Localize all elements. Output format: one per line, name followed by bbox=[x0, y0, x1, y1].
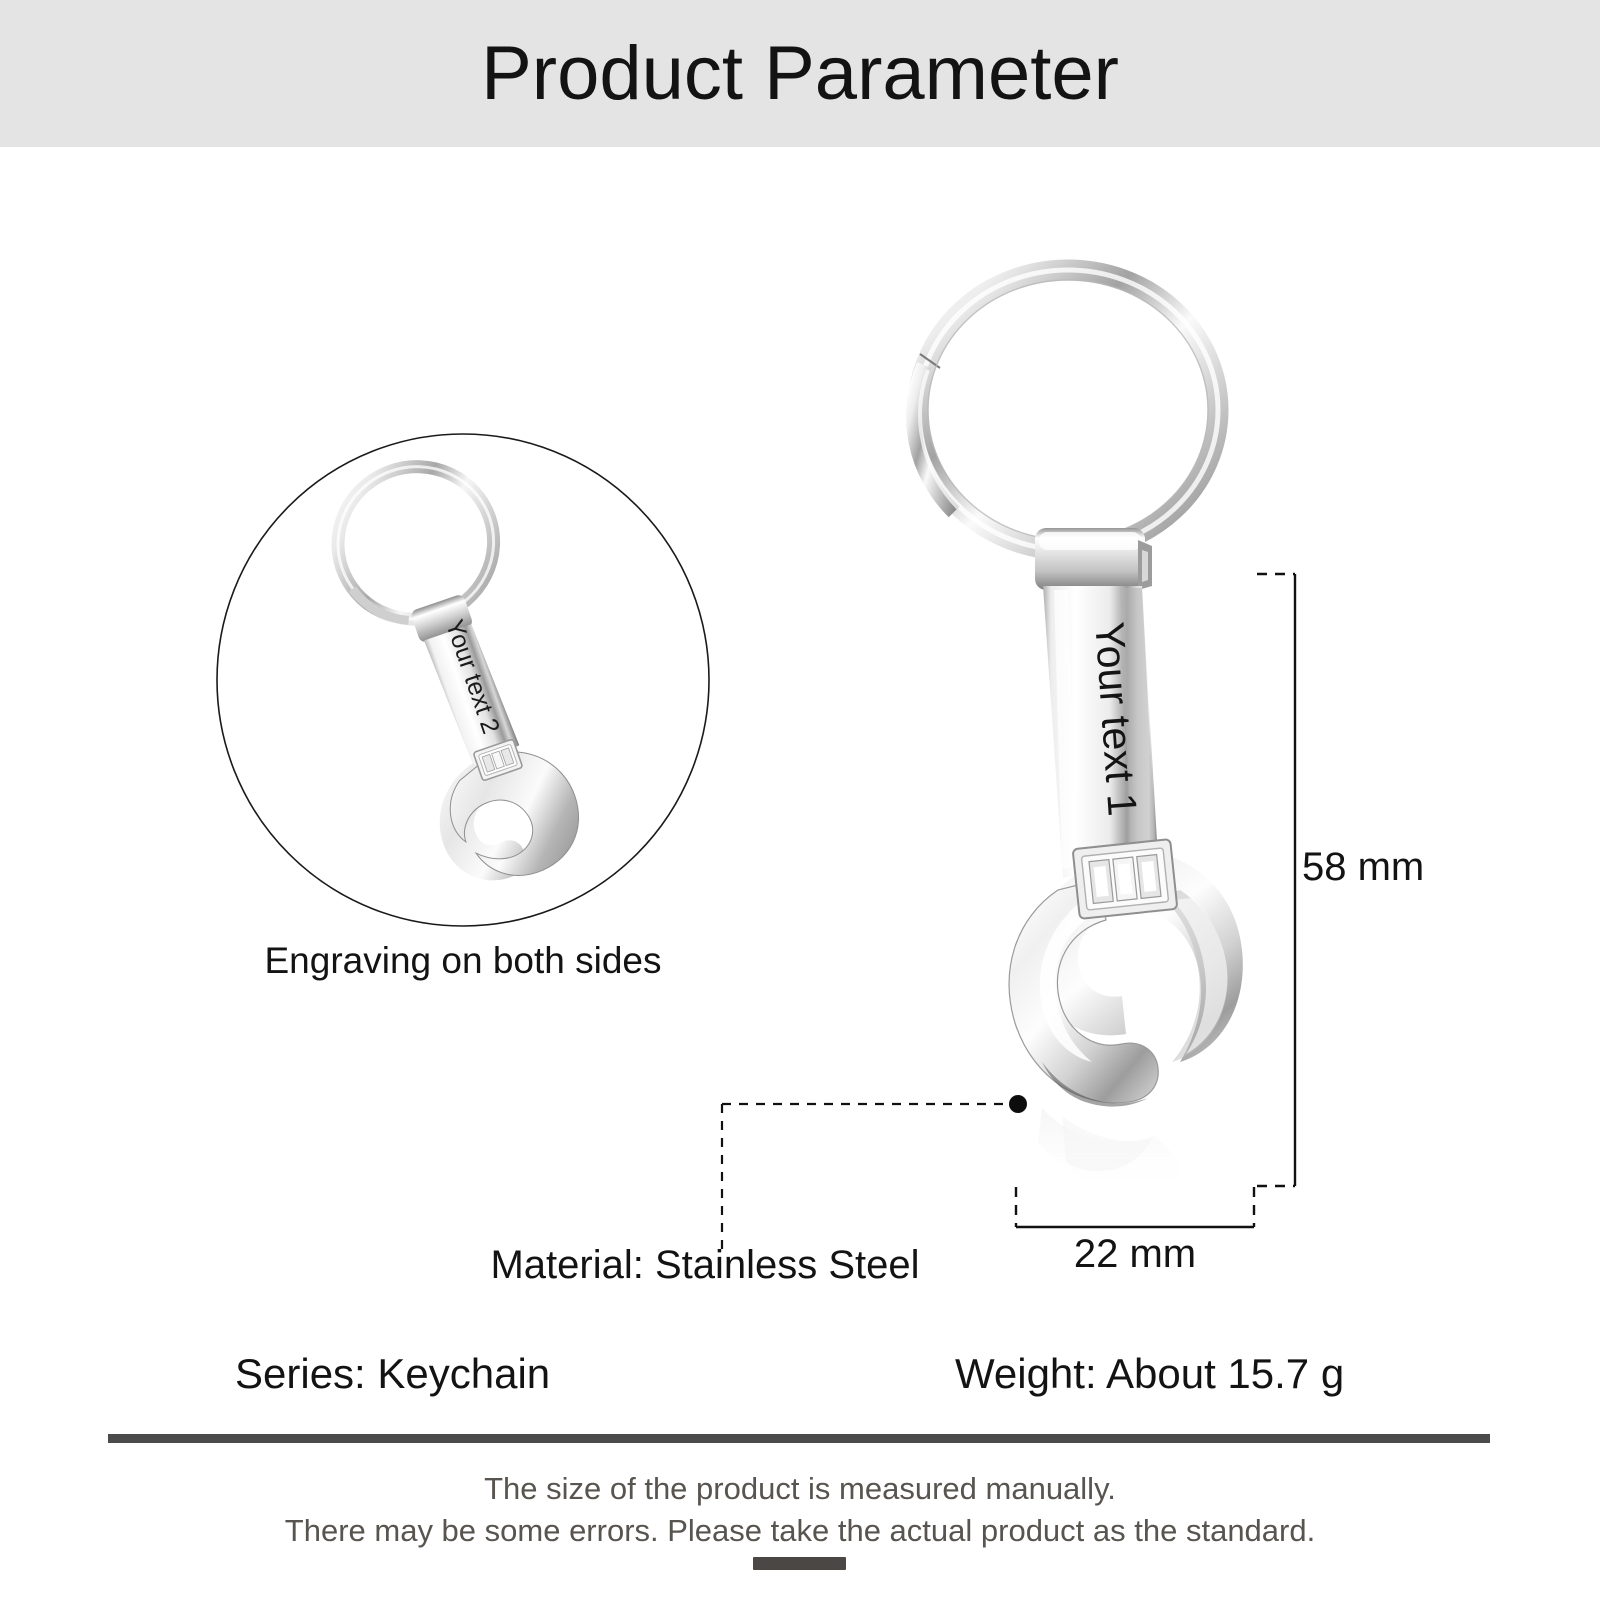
material-label: Material: Stainless Steel bbox=[405, 1243, 1005, 1288]
dimension-height-label: 58 mm bbox=[1302, 845, 1424, 890]
material-leader-dot bbox=[1009, 1095, 1027, 1113]
footer-disclaimer: The size of the product is measured manu… bbox=[0, 1468, 1600, 1552]
footer-line-2: There may be some errors. Please take th… bbox=[0, 1510, 1600, 1552]
bottom-bar bbox=[753, 1557, 846, 1570]
spec-series: Series: Keychain bbox=[235, 1350, 550, 1398]
page-title: Product Parameter bbox=[0, 0, 1600, 147]
product-reflection bbox=[1038, 1108, 1183, 1196]
collar bbox=[1035, 528, 1152, 590]
key-ring bbox=[914, 270, 1218, 550]
divider-rule bbox=[108, 1434, 1490, 1443]
spec-weight: Weight: About 15.7 g bbox=[955, 1350, 1344, 1398]
crystal-setting bbox=[1073, 839, 1178, 919]
footer-line-1: The size of the product is measured manu… bbox=[0, 1468, 1600, 1510]
engraving-detail-inset: Your text 2 bbox=[213, 430, 713, 930]
product-parameter-infographic: Product Parameter bbox=[0, 0, 1600, 1600]
inset-caption: Engraving on both sides bbox=[213, 940, 713, 982]
material-callout-leader bbox=[700, 1085, 1040, 1265]
inset-svg: Your text 2 bbox=[213, 430, 713, 930]
material-leader-svg bbox=[700, 1085, 1040, 1265]
